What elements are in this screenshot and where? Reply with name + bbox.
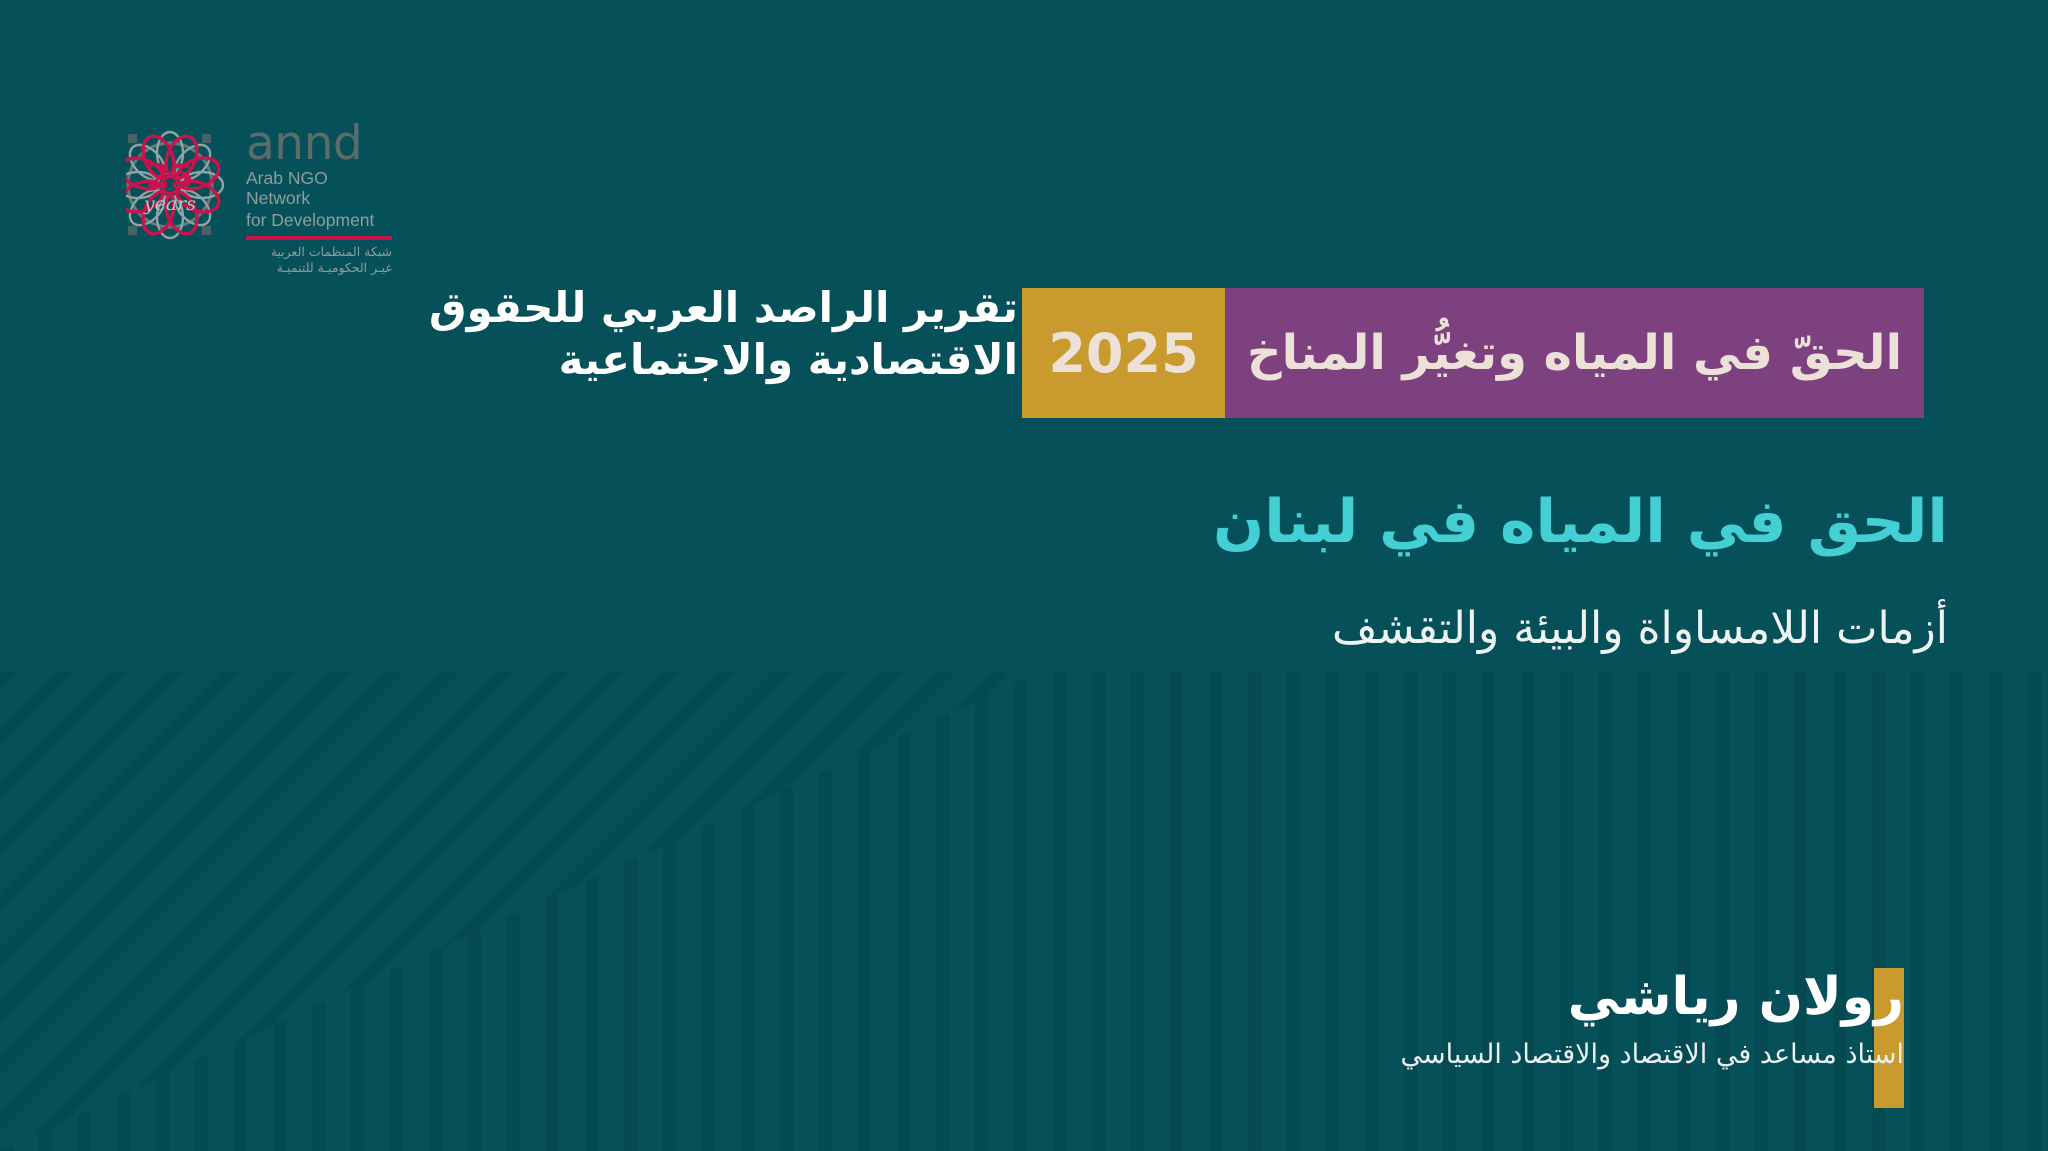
striped-background-band: [0, 672, 2048, 1151]
cover-subtitle: أزمات اللامساواة والبيئة والتقشف: [748, 600, 1948, 658]
logo-wordmark-block: annd Arab NGO Network for Development شب…: [246, 122, 396, 276]
cover-headline: الحق في المياه في لبنان: [748, 485, 1948, 559]
logo-tagline-arabic-line-2: غيـر الحكوميـة للتنميـة: [246, 260, 392, 276]
logo-tagline-line-1: Arab NGO Network: [246, 168, 396, 208]
author-name: رولان رياشي: [804, 965, 1904, 1029]
logo-wordmark-text: annd: [246, 122, 396, 166]
report-theme-badge: الحقّ في المياه وتغيُّر المناخ: [1225, 288, 1924, 418]
logo-tagline-line-2: for Development: [246, 210, 396, 230]
report-edition-banner: 2025 الحقّ في المياه وتغيُّر المناخ: [1022, 288, 1924, 418]
annd-logo: 25 years annd Arab NGO Network for Devel…: [126, 122, 394, 252]
report-year-badge: 2025: [1022, 288, 1225, 418]
logo-divider-rule: [246, 236, 392, 240]
logo-tagline-arabic-line-1: شبكة المنظمات العربية: [246, 244, 392, 260]
report-cover-page: 25 years annd Arab NGO Network for Devel…: [0, 0, 2048, 1151]
logo-anniversary-word: years: [143, 193, 196, 215]
author-role: استاذ مساعد في الاقتصاد والاقتصاد السياس…: [804, 1035, 1904, 1075]
author-block: رولان رياشي استاذ مساعد في الاقتصاد والا…: [804, 965, 1904, 1075]
logo-rosette-mark-icon: 25 years: [126, 122, 246, 252]
report-series-title: تقرير الراصد العربي للحقوق الاقتصادية وا…: [378, 282, 1018, 386]
logo-anniversary-number: 25: [146, 157, 193, 197]
